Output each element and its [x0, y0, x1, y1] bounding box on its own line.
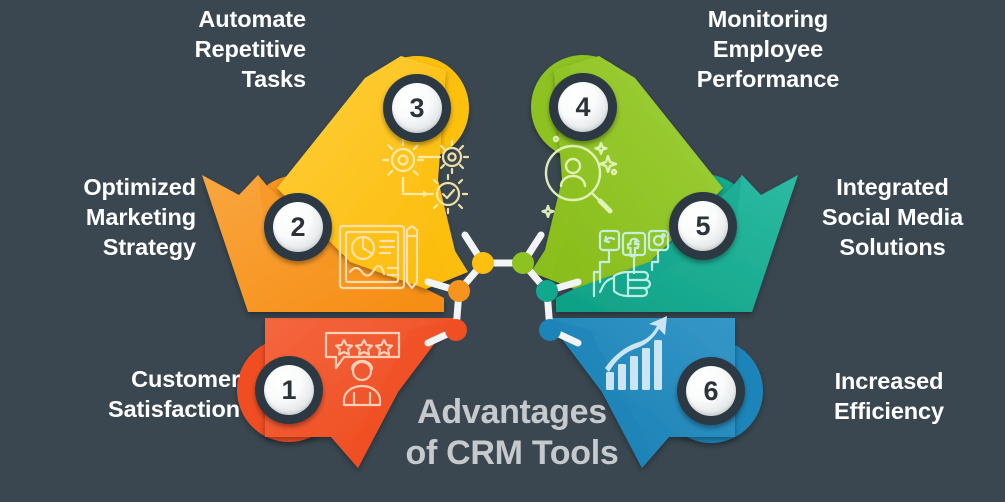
segment-1-badge[interactable]: 1 [255, 356, 323, 424]
segment-2-number: 2 [273, 202, 323, 252]
infographic-canvas: 1 2 3 4 5 6 Customer Satisfaction Optimi… [0, 0, 1005, 502]
page-title: Advantages of CRM Tools [372, 392, 652, 475]
segment-1-number: 1 [264, 365, 314, 415]
segment-2-badge[interactable]: 2 [264, 193, 332, 261]
hub-node-orange [448, 280, 470, 302]
segment-4-badge[interactable]: 4 [549, 73, 617, 141]
segment-6-number: 6 [686, 366, 736, 416]
segment-5-label: Integrated Social Media Solutions [790, 173, 995, 263]
segment-4-number: 4 [558, 82, 608, 132]
segment-5-badge[interactable]: 5 [669, 192, 737, 260]
hub-node-blue [539, 319, 561, 341]
segment-6-label: Increased Efficiency [790, 367, 988, 427]
hub-node-red [445, 319, 467, 341]
segment-1-label: Customer Satisfaction [30, 365, 240, 425]
segment-4-label: Monitoring Employee Performance [660, 5, 876, 95]
segment-5-number: 5 [678, 201, 728, 251]
segment-6-badge[interactable]: 6 [677, 357, 745, 425]
segment-2-label: Optimized Marketing Strategy [30, 173, 196, 263]
segment-3-badge[interactable]: 3 [383, 74, 451, 142]
hub-node-yellow [472, 252, 494, 274]
hub-node-teal [536, 280, 558, 302]
segment-3-number: 3 [392, 83, 442, 133]
segment-3-label: Automate Repetitive Tasks [120, 5, 306, 95]
hub-node-green [512, 252, 534, 274]
